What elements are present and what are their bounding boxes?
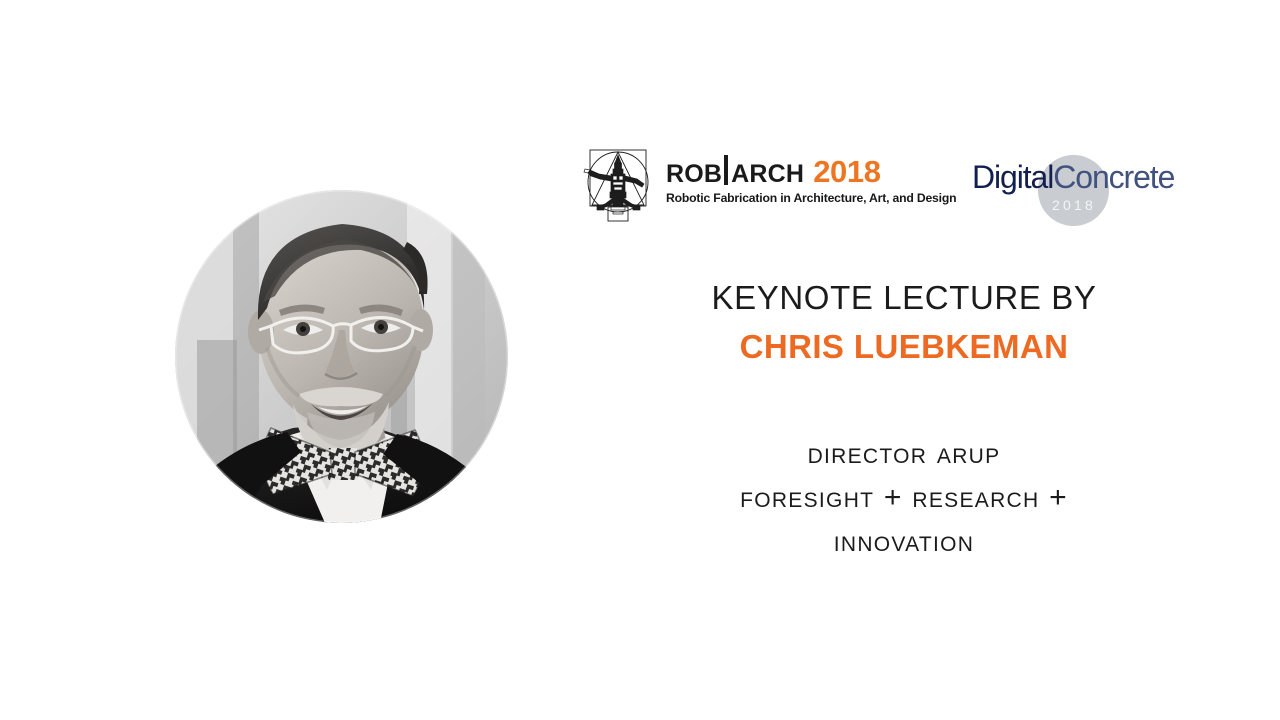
role-line-1: Director Arup bbox=[600, 432, 1208, 476]
robarch-word-arch: Arch bbox=[731, 151, 804, 190]
presentation-slide: RobArch2018 Robotic Fabrication in Archi… bbox=[0, 0, 1280, 720]
digital-concrete-word-digital: Digital bbox=[972, 159, 1053, 195]
robarch-text-block: RobArch2018 Robotic Fabrication in Archi… bbox=[666, 146, 956, 205]
digital-concrete-logo[interactable]: DigitalConcrete 2018 bbox=[972, 150, 1202, 228]
speaker-portrait bbox=[175, 190, 508, 523]
robarch-wordmark: RobArch2018 bbox=[666, 153, 956, 188]
role-line-3: Innovation bbox=[600, 520, 1208, 564]
robarch-year: 2018 bbox=[813, 154, 880, 189]
digital-concrete-wordmark: DigitalConcrete bbox=[972, 161, 1174, 193]
robarch-separator-bar bbox=[724, 155, 728, 185]
digital-concrete-word-concrete: Concrete bbox=[1053, 159, 1174, 195]
speaker-role-block: Director Arup Foresight + Research + Inn… bbox=[600, 432, 1208, 564]
robarch-tagline: Robotic Fabrication in Architecture, Art… bbox=[666, 191, 956, 205]
headline-block: KEYNOTE LECTURE BY CHRIS LUEBKEMAN bbox=[600, 276, 1208, 369]
role-line-2: Foresight + Research + bbox=[600, 476, 1208, 520]
digital-concrete-year: 2018 bbox=[1042, 197, 1106, 213]
robarch-vitruvian-robot-icon bbox=[583, 146, 655, 228]
robarch-word-rob: Rob bbox=[666, 151, 722, 190]
logo-row: RobArch2018 Robotic Fabrication in Archi… bbox=[583, 146, 1203, 230]
robarch-logo[interactable]: RobArch2018 Robotic Fabrication in Archi… bbox=[583, 146, 956, 228]
portrait-image bbox=[175, 190, 508, 523]
speaker-name: CHRIS LUEBKEMAN bbox=[600, 325, 1208, 369]
keynote-intro-text: KEYNOTE LECTURE BY bbox=[600, 276, 1208, 320]
